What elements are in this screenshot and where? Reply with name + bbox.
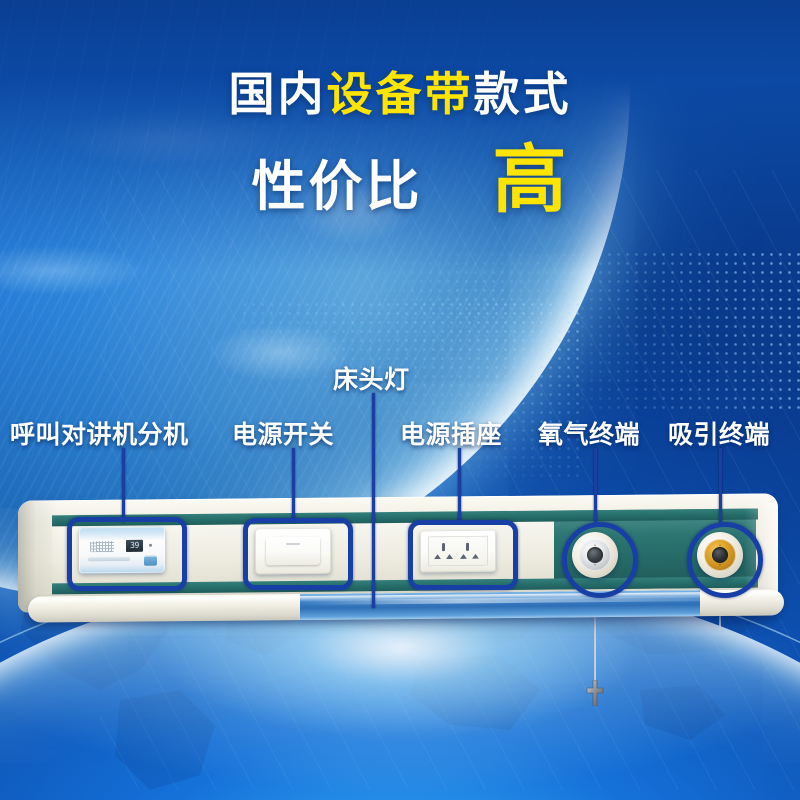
label-call-intercom: 呼叫对讲机分机 bbox=[10, 415, 189, 451]
highlight-oxygen-terminal bbox=[562, 522, 638, 598]
leader-line-call-intercom bbox=[122, 448, 125, 522]
poster-canvas: 国内设备带款式 性价比高 呼叫对讲机分机 电源开关 床头灯 电源插座 氧气终端 … bbox=[0, 0, 800, 800]
leader-line-oxygen-terminal bbox=[594, 448, 597, 522]
leader-line-power-outlet bbox=[458, 448, 461, 522]
callout-layer: 呼叫对讲机分机 电源开关 床头灯 电源插座 氧气终端 吸引终端 bbox=[0, 0, 800, 800]
leader-line-bedside-lamp bbox=[372, 393, 375, 608]
label-bedside-lamp: 床头灯 bbox=[333, 360, 410, 396]
label-power-outlet: 电源插座 bbox=[400, 415, 502, 451]
label-suction-terminal: 吸引终端 bbox=[668, 415, 770, 451]
leader-line-power-switch bbox=[292, 448, 295, 522]
label-oxygen-terminal: 氧气终端 bbox=[538, 415, 640, 451]
leader-line-suction-terminal bbox=[719, 448, 722, 522]
highlight-power-switch bbox=[243, 518, 353, 590]
highlight-suction-terminal bbox=[687, 522, 763, 598]
highlight-power-outlet bbox=[408, 520, 518, 590]
highlight-call-intercom bbox=[67, 517, 187, 591]
label-power-switch: 电源开关 bbox=[232, 415, 334, 451]
